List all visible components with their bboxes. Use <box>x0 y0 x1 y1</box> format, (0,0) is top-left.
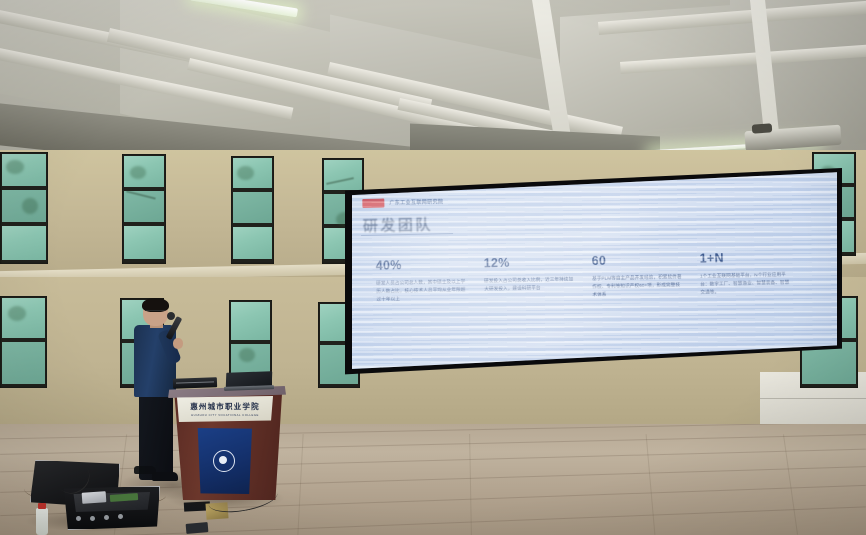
ceiling <box>0 0 866 168</box>
case-knob[interactable] <box>104 515 109 520</box>
wainscot-seam <box>760 398 866 399</box>
lecture-hall-photo: 广东工业互联网研究院 研发团队 40% 研发人员占公司总人数，其中硕士及以上学历… <box>0 0 866 535</box>
window <box>122 154 166 264</box>
case-knob[interactable] <box>118 514 123 519</box>
presenter-hand <box>173 338 183 349</box>
window <box>0 296 47 388</box>
microphone-head <box>167 312 175 320</box>
presenter-shoe <box>134 466 156 474</box>
presenter-shoe <box>152 472 178 481</box>
presenter-glasses <box>145 310 165 311</box>
projector-lens <box>752 123 773 133</box>
podium-nameplate: 惠州城市职业学院 HUIZHOU CITY VOCATIONAL COLLEGE <box>176 396 274 422</box>
case-knob[interactable] <box>90 516 95 521</box>
window <box>231 156 274 264</box>
window <box>0 152 48 264</box>
phone-on-floor <box>186 522 209 534</box>
case-knob[interactable] <box>76 516 81 521</box>
podium-plate-english: HUIZHOU CITY VOCATIONAL COLLEGE <box>191 413 259 417</box>
emblem-center-icon <box>219 456 227 464</box>
led-display: 广东工业互联网研究院 研发团队 40% 研发人员占公司总人数，其中硕士及以上学历… <box>342 168 842 383</box>
water-bottle[interactable] <box>36 508 48 535</box>
case-equipment <box>82 491 107 504</box>
bottle-cap <box>38 503 46 509</box>
podium-plate-chinese: 惠州城市职业学院 <box>190 401 260 412</box>
